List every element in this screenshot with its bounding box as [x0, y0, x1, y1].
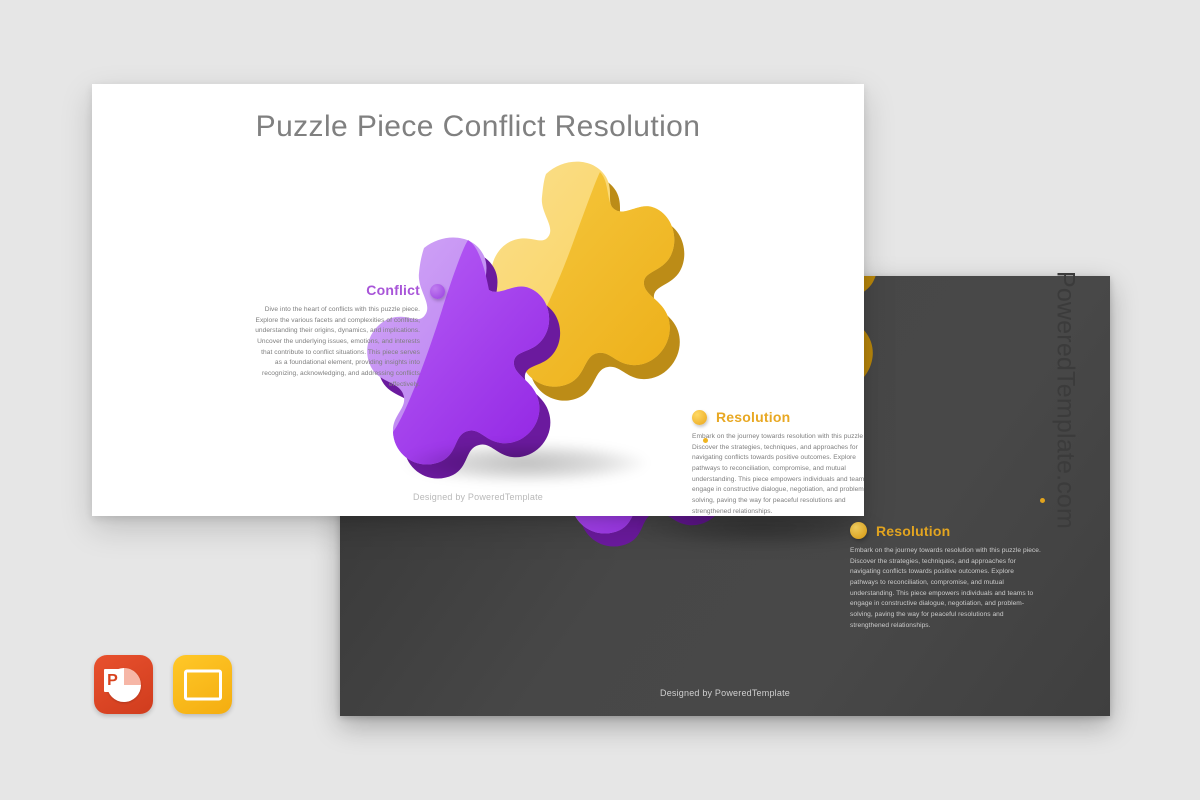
conflict-marker-dot	[430, 284, 445, 299]
powerpoint-glyph	[107, 668, 141, 702]
dark-resolution-body: Embark on the journey towards resolution…	[850, 546, 1042, 631]
powerpoint-icon[interactable]	[94, 655, 153, 714]
resolution-marker-dot	[850, 522, 867, 539]
light-slide-footer: Designed by PoweredTemplate	[92, 492, 864, 502]
dark-resolution-heading-row: Resolution	[850, 522, 1042, 539]
conflict-body: Dive into the heart of conflicts with th…	[255, 305, 420, 390]
conflict-block: Conflict Dive into the heart of conflict…	[255, 282, 420, 390]
conflict-heading: Conflict	[366, 282, 420, 298]
google-slides-glyph	[184, 669, 222, 700]
resolution-heading: Resolution	[716, 409, 790, 425]
resolution-marker-dot	[692, 410, 707, 425]
light-puzzle-floor-shadow	[403, 443, 648, 483]
light-slide-title: Puzzle Piece Conflict Resolution	[92, 110, 864, 144]
light-slide[interactable]: Puzzle Piece Conflict Resolution	[92, 84, 864, 516]
dark-resolution-heading: Resolution	[876, 523, 950, 539]
preview-stage: olution	[0, 0, 1200, 800]
app-format-icons	[94, 655, 232, 714]
dark-accent-dot	[1040, 498, 1045, 503]
resolution-heading-row: Resolution	[692, 409, 864, 425]
site-watermark: PoweredTemplate.com	[1050, 271, 1079, 529]
google-slides-icon[interactable]	[173, 655, 232, 714]
resolution-body: Embark on the journey towards resolution…	[692, 432, 864, 516]
conflict-heading-row: Conflict	[255, 282, 420, 298]
dark-slide-footer: Designed by PoweredTemplate	[340, 688, 1110, 698]
dark-resolution-block: Resolution Embark on the journey towards…	[850, 522, 1042, 631]
